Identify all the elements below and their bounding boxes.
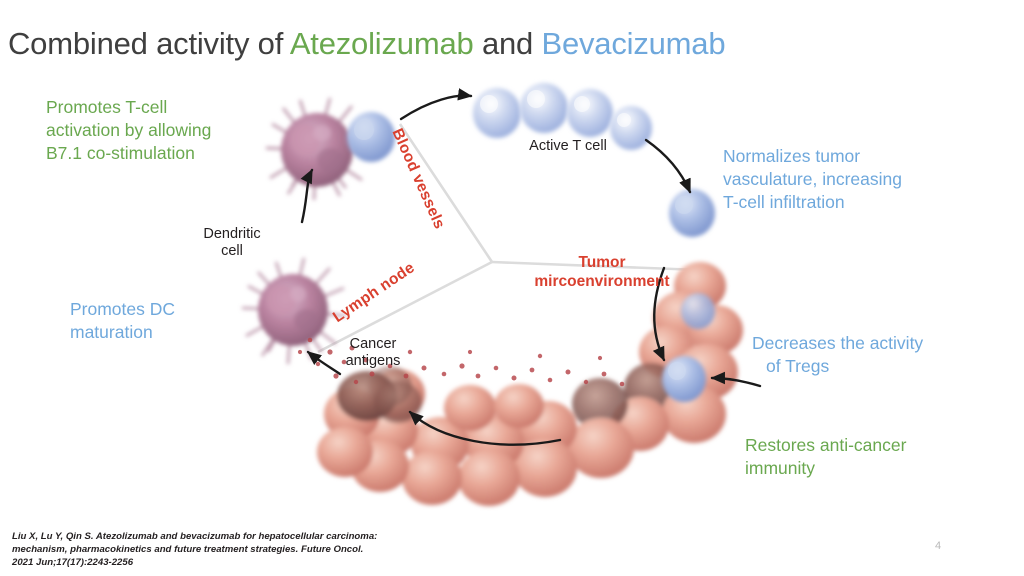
callout-line: immunity [745,457,995,480]
callout-line: Promotes T-cell [46,96,261,119]
label-line: antigens [326,353,420,370]
label-dendritic-cell: Dendritic cell [186,226,278,261]
label-active-t-cell: Active T cell [508,138,628,155]
arrow-dc-up [302,170,312,222]
callout-line: T-cell infiltration [723,191,1013,214]
label-tumor-microenvironment: Tumor mircoenvironment [512,254,692,292]
title-part1: Combined activity of [8,26,290,61]
label-line: Dendritic [186,226,278,243]
callout-line: Restores anti-cancer [745,434,995,457]
callout-tcell-activation: Promotes T-cell activation by allowing B… [46,96,261,165]
label-line: mircoenvironment [512,273,692,292]
callout-anticancer-immunity: Restores anti-cancer immunity [745,434,995,480]
callout-line: of Tregs [752,355,1022,378]
citation-line: Liu X, Lu Y, Qin S. Atezolizumab and bev… [12,530,482,543]
callout-dc-maturation: Promotes DC maturation [70,298,285,344]
dendritic-cell-upper [266,98,395,200]
arrow-tcell-down [646,140,690,192]
zone-dividers [318,124,700,352]
callout-treg-activity: Decreases the activity of Tregs [752,332,1022,378]
callout-line: vasculature, increasing [723,168,1013,191]
arrow-tumor-left [410,412,560,445]
arrow-treg [712,378,760,386]
callout-line: Promotes DC [70,298,285,321]
citation-line: mechanism, pharmacokinetics and future t… [12,543,482,556]
title-part2: and [474,26,542,61]
slide-number: 4 [935,540,941,552]
callout-line: Normalizes tumor [723,145,1013,168]
slide-canvas: Combined activity of Atezolizumab and Be… [0,0,1024,576]
citation: Liu X, Lu Y, Qin S. Atezolizumab and bev… [12,530,482,570]
label-cancer-antigens: Cancer antigens [326,336,420,371]
callout-line: maturation [70,321,285,344]
arrow-to-tcells [401,96,471,119]
callout-line: B7.1 co-stimulation [46,142,261,165]
page-title: Combined activity of Atezolizumab and Be… [8,26,725,62]
callout-tumor-vasculature: Normalizes tumor vasculature, increasing… [723,145,1013,214]
title-drug-atezolizumab: Atezolizumab [290,26,474,61]
callout-line: activation by allowing [46,119,261,142]
label-lymph-node: Lymph node [330,259,419,328]
active-t-cell-chain [473,83,715,237]
citation-line: 2021 Jun;17(17):2243-2256 [12,556,482,569]
title-drug-bevacizumab: Bevacizumab [541,26,725,61]
label-line: Cancer [326,336,420,353]
callout-line: Decreases the activity [752,332,1022,355]
label-blood-vessels: Blood vessels [387,126,448,232]
infiltrating-t-cells [662,293,715,402]
label-line: Tumor [512,254,692,273]
label-line: cell [186,243,278,260]
